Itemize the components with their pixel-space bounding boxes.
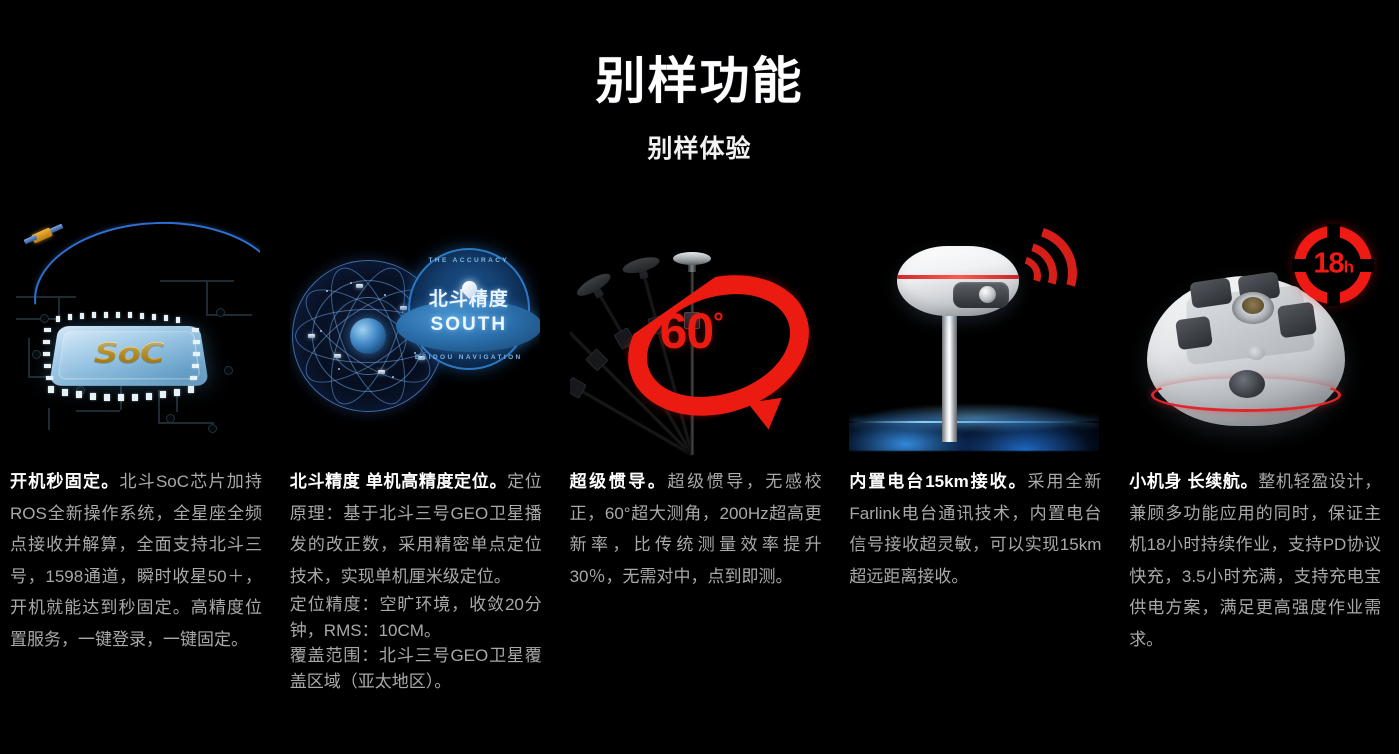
feature-heading: 小机身 长续航。	[1129, 472, 1258, 491]
badge-arc-bottom-text: BEIDOU NAVIGATION	[408, 354, 530, 361]
feature-column-beidou-accuracy: THE ACCURACY 北斗精度 SOUTH BEIDOU NAVIGATIO…	[280, 218, 560, 754]
feature-heading: 北斗精度 单机高精度定位。	[290, 472, 507, 491]
badge-arc-top-text: THE ACCURACY	[408, 257, 530, 264]
feature-text-super-imu: 超级惯导。超级惯导，无感校正，60°超大测角，200Hz超高更新率，比传统测量效…	[570, 466, 822, 592]
feature-column-soc-chip: SoC	[0, 218, 280, 754]
base-camera-port	[1229, 370, 1265, 398]
feature-columns: SoC	[0, 218, 1399, 754]
battery-hours-unit: h	[1344, 258, 1353, 277]
feature-text-built-in-radio: 内置电台15km接收。采用全新Farlink电台通讯技术，内置电台信号接收超灵敏…	[849, 466, 1101, 592]
earth-globe	[350, 318, 386, 354]
gnss-receiver-radio-signal	[849, 218, 1099, 463]
tilt-survey-poles: 60°	[570, 218, 820, 463]
receiver-base-battery-badge: 18h	[1129, 218, 1379, 463]
base-pad-3	[1175, 316, 1213, 350]
page-subtitle: 别样体验	[0, 133, 1399, 165]
feature-heading: 超级惯导。	[570, 472, 668, 491]
feature-column-long-battery: 18h 小机身 长续航。整机轻盈设计，兼顾多功能应用的同时，保证主机18小时持续…	[1119, 218, 1399, 754]
base-pad-4	[1277, 302, 1317, 339]
feature-text-beidou-accuracy: 北斗精度 单机高精度定位。定位原理：基于北斗三号GEO卫星播发的改正数，采用精密…	[290, 466, 542, 694]
angle-label: 60°	[660, 302, 723, 360]
blue-signal-wave-graphic	[849, 365, 1099, 451]
badge-brand-text: SOUTH	[408, 314, 530, 336]
angle-value: 60	[660, 303, 714, 359]
feature-text-long-battery: 小机身 长续航。整机轻盈设计，兼顾多功能应用的同时，保证主机18小时持续作业，支…	[1129, 466, 1381, 655]
feature-extra-line-2: 覆盖范围：北斗三号GEO卫星覆盖区域（亚太地区）。	[290, 643, 542, 694]
soc-chip-illustration: SoC	[10, 218, 260, 463]
blue-horizon-line	[849, 421, 1099, 423]
receiver-pole	[942, 314, 957, 442]
battery-hours-value: 18	[1313, 248, 1343, 280]
feature-column-super-imu: 60° 超级惯导。超级惯导，无感校正，60°超大测角，200Hz超高更新率，比传…	[560, 218, 840, 754]
radio-wave-3-icon	[967, 218, 1094, 337]
chip-pins	[10, 218, 260, 463]
feature-text-soc-chip: 开机秒固定。北斗SoC芯片加持ROS全新操作系统，全星座全频点接收并解算，全面支…	[10, 466, 262, 655]
base-pad-1	[1190, 277, 1233, 308]
feature-body: 整机轻盈设计，兼顾多功能应用的同时，保证主机18小时持续作业，支持PD协议快充，…	[1129, 472, 1381, 649]
feature-column-built-in-radio: 内置电台15km接收。采用全新Farlink电台通讯技术，内置电台信号接收超灵敏…	[839, 218, 1119, 754]
feature-body: 北斗SoC芯片加持ROS全新操作系统，全星座全频点接收并解算，全面支持北斗三号，…	[10, 472, 262, 649]
feature-heading: 内置电台15km接收。	[849, 472, 1027, 491]
battery-life-badge: 18h	[1294, 226, 1372, 304]
feature-section: 别样功能 别样体验	[0, 0, 1399, 754]
feature-heading: 开机秒固定。	[10, 472, 119, 491]
degree-symbol: °	[713, 306, 722, 336]
battery-hours-label: 18h	[1294, 248, 1372, 281]
beidou-constellation-badge: THE ACCURACY 北斗精度 SOUTH BEIDOU NAVIGATIO…	[290, 218, 540, 463]
beidou-accuracy-badge: THE ACCURACY 北斗精度 SOUTH BEIDOU NAVIGATIO…	[408, 248, 530, 370]
page-title: 别样功能	[0, 52, 1399, 110]
feature-extra-line-1: 定位精度：空旷环境，收敛20分钟，RMS：10CM。	[290, 592, 542, 643]
